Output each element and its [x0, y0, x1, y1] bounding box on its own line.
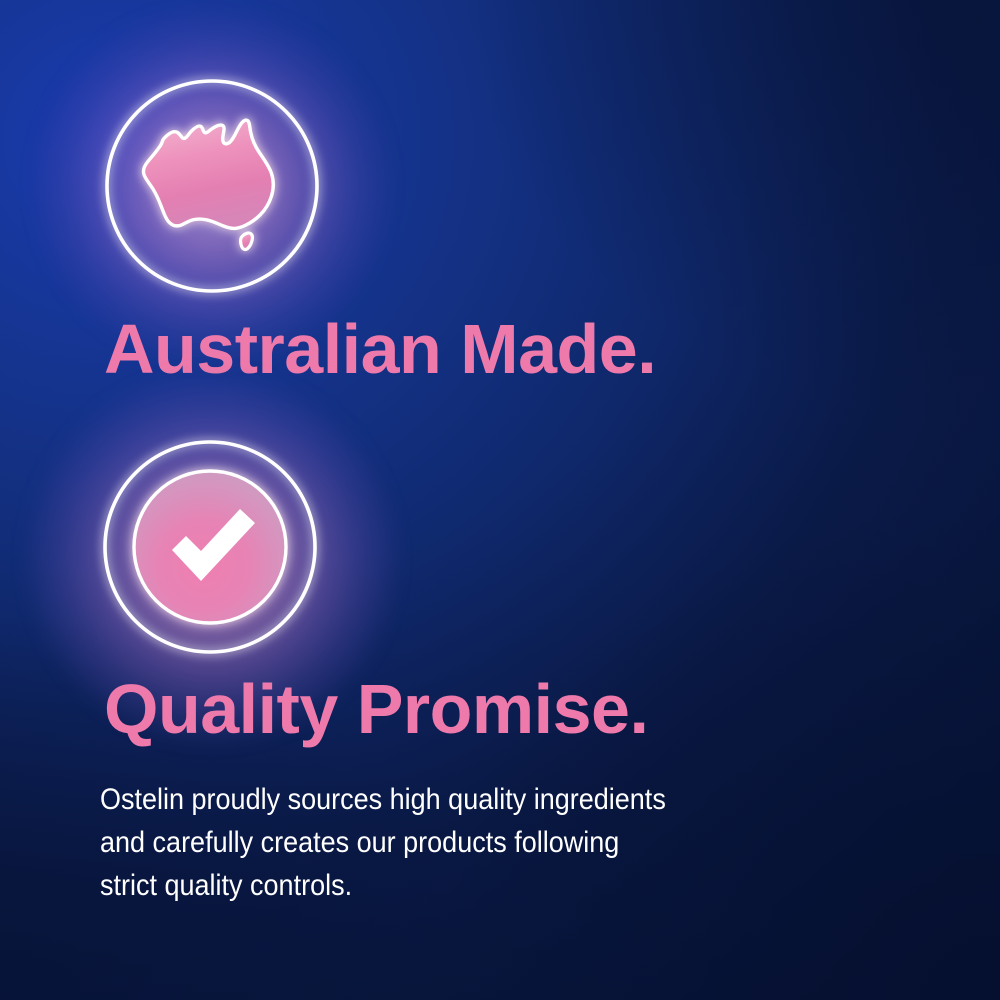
tasmania-shape: [241, 233, 253, 250]
quality-promise-body-text: Ostelin proudly sources high quality ing…: [100, 778, 784, 907]
promo-card: Australian Made.: [0, 0, 1000, 1000]
australia-map-icon: [102, 76, 322, 296]
heading-australian-made: Australian Made.: [104, 314, 656, 384]
checkmark-circle-icon: [100, 437, 320, 657]
heading-quality-promise: Quality Promise.: [104, 674, 648, 744]
australia-continent-shape: [143, 120, 273, 249]
